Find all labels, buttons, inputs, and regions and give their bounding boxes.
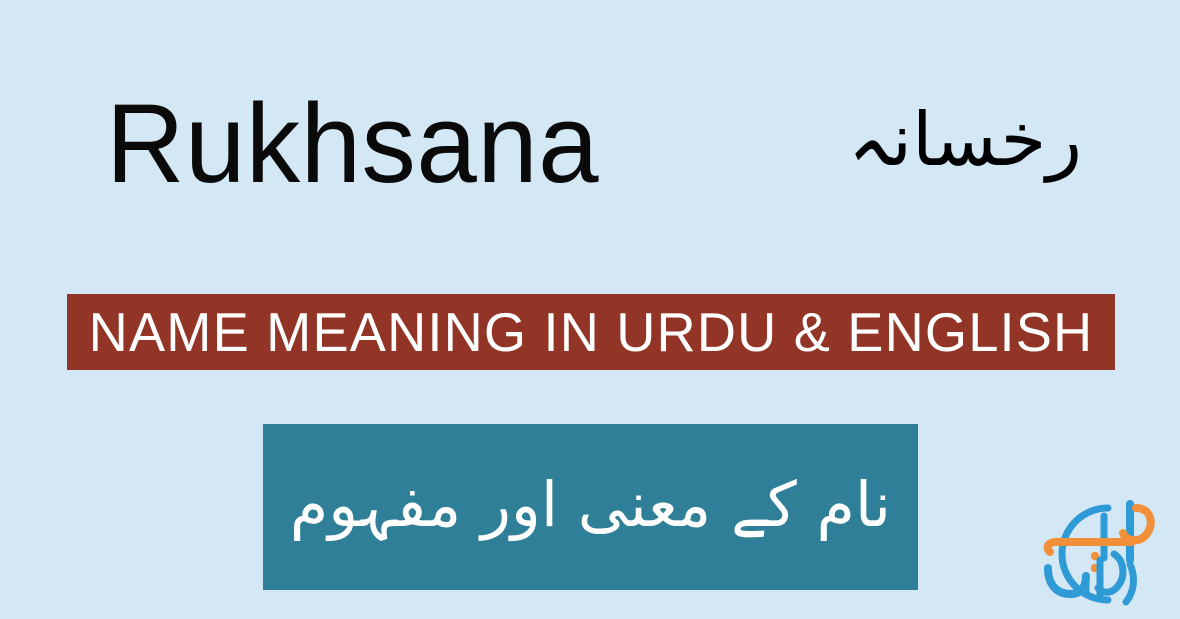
web-sahara-logo	[1012, 494, 1157, 614]
name-urdu: رخسانہ	[852, 92, 1082, 190]
banner-title: NAME MEANING IN URDU & ENGLISH	[89, 305, 1094, 360]
name-latin: Rukhsana	[106, 88, 599, 200]
meaning-box: نام کے معنی اور مفہوم	[263, 424, 918, 590]
logo-mark	[1012, 494, 1157, 614]
meaning-urdu-label: نام کے معنی اور مفہوم	[290, 458, 891, 557]
banner-bar: NAME MEANING IN URDU & ENGLISH	[67, 294, 1115, 370]
name-meaning-card: Rukhsana رخسانہ NAME MEANING IN URDU & E…	[0, 0, 1180, 619]
logo-tail-icon	[1126, 564, 1133, 602]
logo-hook-icon	[1048, 542, 1056, 552]
